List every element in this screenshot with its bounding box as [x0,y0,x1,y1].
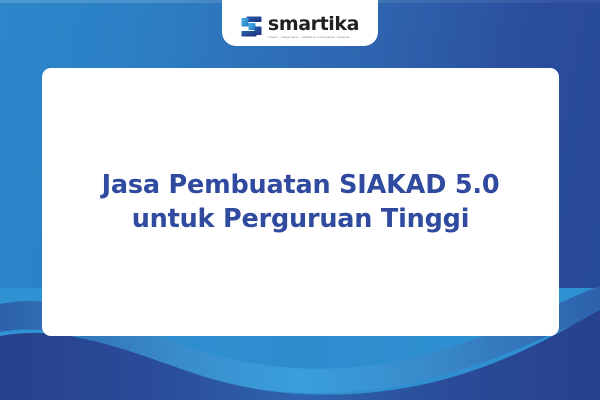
brand-tagline: smart : integrated : adaptive ecosystem … [268,36,350,39]
brand-logo-row: smartika smart : integrated : adaptive e… [241,15,359,39]
brand-text-block: smartika smart : integrated : adaptive e… [268,15,359,39]
brand-wordmark: smartika [268,15,359,34]
content-card: Jasa Pembuatan SIAKAD 5.0 untuk Pergurua… [42,68,559,336]
page-title: Jasa Pembuatan SIAKAD 5.0 untuk Pergurua… [68,168,534,236]
smartika-s-mark-icon [241,16,262,37]
page-title-line-1: Jasa Pembuatan SIAKAD 5.0 [102,168,500,202]
brand-logo-tab: smartika smart : integrated : adaptive e… [222,0,378,46]
page-title-line-2: untuk Perguruan Tinggi [102,202,500,236]
promo-banner: smartika smart : integrated : adaptive e… [0,0,600,400]
